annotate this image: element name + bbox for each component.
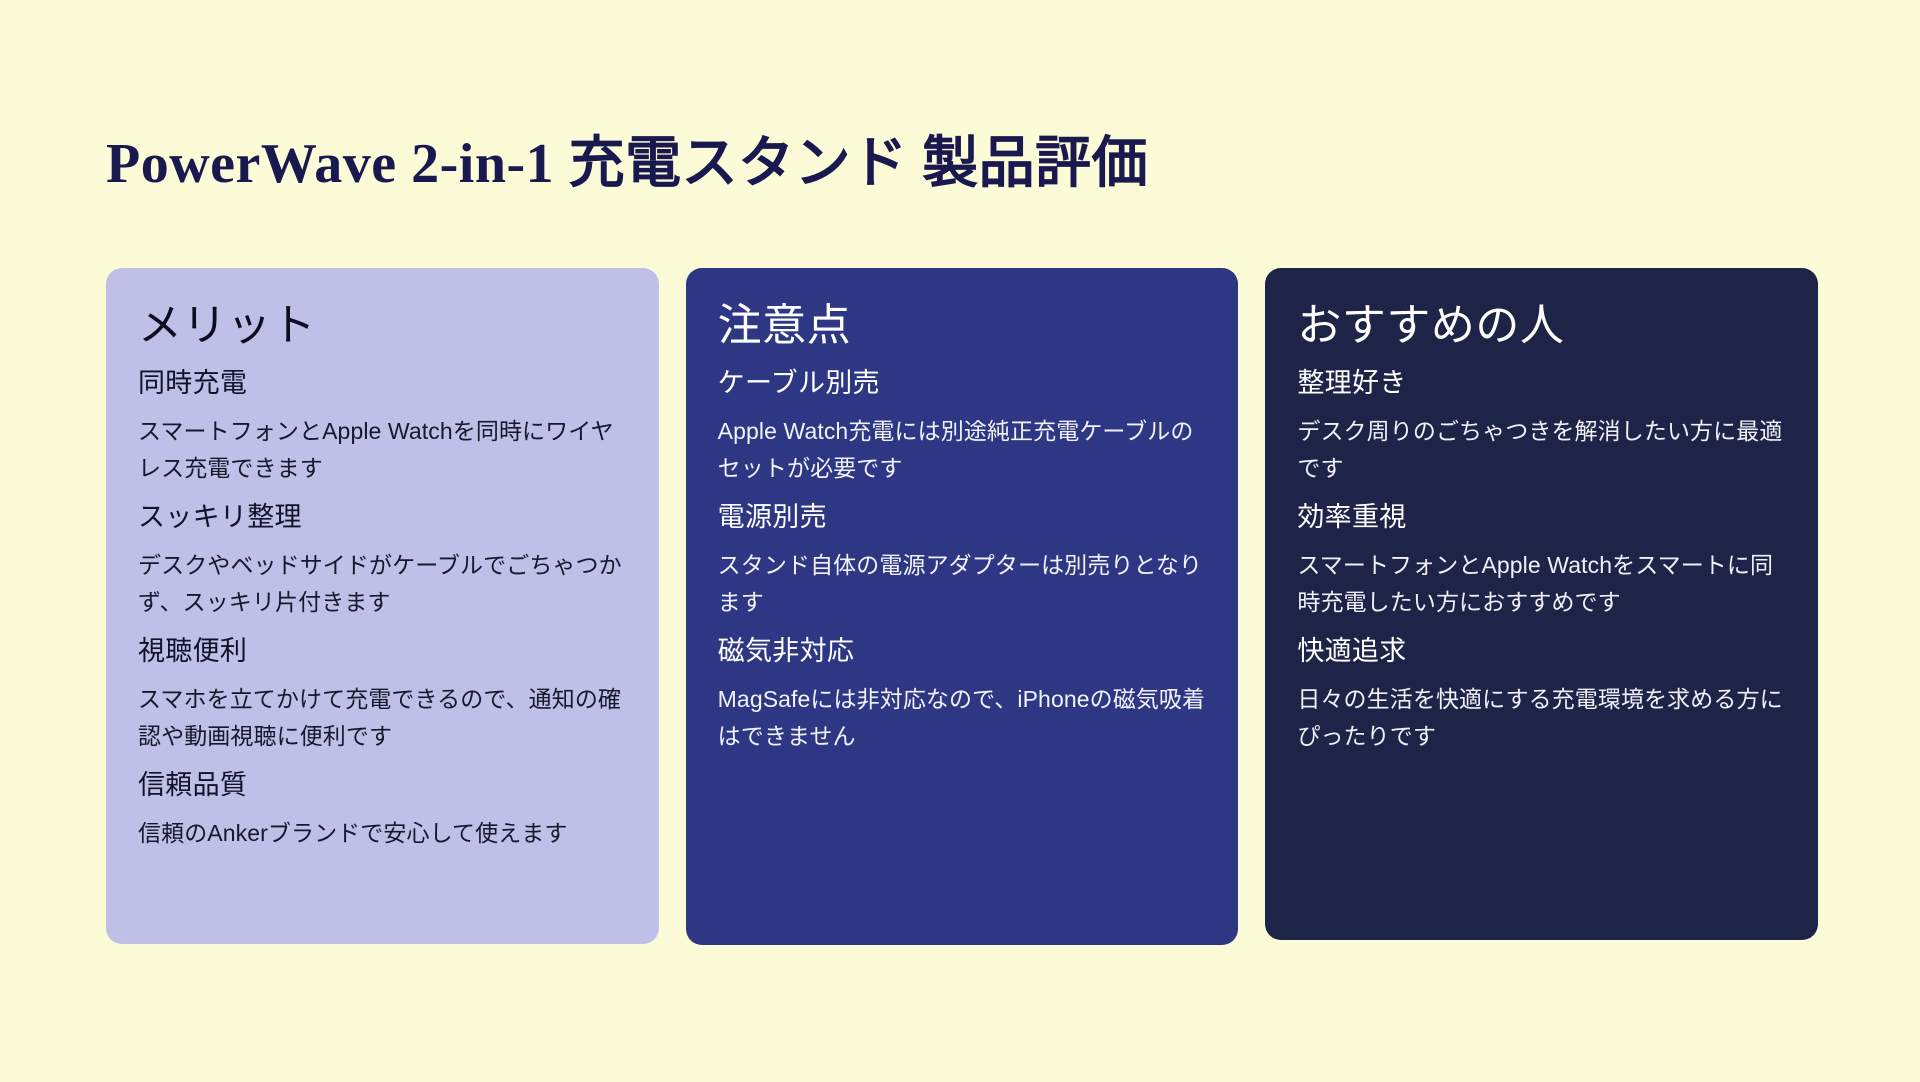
item-heading: 快適追求 bbox=[1297, 631, 1786, 672]
item-body: スタンド自体の電源アダプターは別売りとなります bbox=[718, 547, 1207, 622]
item-heading: 視聴便利 bbox=[138, 631, 627, 672]
card-merits: メリット 同時充電 スマートフォンとApple Watchを同時にワイヤレス充電… bbox=[106, 268, 659, 944]
item-heading: ケーブル別売 bbox=[718, 363, 1207, 404]
card-merits-title: メリット bbox=[138, 298, 627, 353]
item-heading: 磁気非対応 bbox=[718, 631, 1207, 672]
card-audience: おすすめの人 整理好き デスク周りのごちゃつきを解消したい方に最適です 効率重視… bbox=[1265, 268, 1818, 940]
item-body: MagSafeには非対応なので、iPhoneの磁気吸着はできません bbox=[718, 681, 1207, 756]
card-audience-title: おすすめの人 bbox=[1297, 298, 1786, 353]
list-item: 効率重視 スマートフォンとApple Watchをスマートに同時充電したい方にお… bbox=[1297, 497, 1786, 621]
list-item: ケーブル別売 Apple Watch充電には別途純正充電ケーブルのセットが必要で… bbox=[718, 363, 1207, 487]
item-heading: 効率重視 bbox=[1297, 497, 1786, 538]
item-body: Apple Watch充電には別途純正充電ケーブルのセットが必要です bbox=[718, 413, 1207, 488]
item-heading: 電源別売 bbox=[718, 497, 1207, 538]
item-body: デスクやベッドサイドがケーブルでごちゃつかず、スッキリ片付きます bbox=[138, 547, 627, 622]
item-heading: 信頼品質 bbox=[138, 765, 627, 806]
item-body: 信頼のAnkerブランドで安心して使えます bbox=[138, 815, 627, 852]
list-item: 快適追求 日々の生活を快適にする充電環境を求める方にぴったりです bbox=[1297, 631, 1786, 755]
card-cautions: 注意点 ケーブル別売 Apple Watch充電には別途純正充電ケーブルのセット… bbox=[686, 268, 1239, 945]
card-cautions-title: 注意点 bbox=[718, 298, 1207, 353]
list-item: 視聴便利 スマホを立てかけて充電できるので、通知の確認や動画視聴に便利です bbox=[138, 631, 627, 755]
item-body: デスク周りのごちゃつきを解消したい方に最適です bbox=[1297, 413, 1786, 488]
list-item: スッキリ整理 デスクやベッドサイドがケーブルでごちゃつかず、スッキリ片付きます bbox=[138, 497, 627, 621]
item-heading: スッキリ整理 bbox=[138, 497, 627, 538]
page-title: PowerWave 2-in-1 充電スタンド 製品評価 bbox=[106, 131, 1148, 197]
list-item: 整理好き デスク周りのごちゃつきを解消したい方に最適です bbox=[1297, 363, 1786, 487]
item-body: スマートフォンとApple Watchを同時にワイヤレス充電できます bbox=[138, 413, 627, 488]
list-item: 磁気非対応 MagSafeには非対応なので、iPhoneの磁気吸着はできません bbox=[718, 631, 1207, 755]
item-body: スマートフォンとApple Watchをスマートに同時充電したい方におすすめです bbox=[1297, 547, 1786, 622]
list-item: 同時充電 スマートフォンとApple Watchを同時にワイヤレス充電できます bbox=[138, 363, 627, 487]
list-item: 電源別売 スタンド自体の電源アダプターは別売りとなります bbox=[718, 497, 1207, 621]
item-body: スマホを立てかけて充電できるので、通知の確認や動画視聴に便利です bbox=[138, 681, 627, 756]
card-group: メリット 同時充電 スマートフォンとApple Watchを同時にワイヤレス充電… bbox=[106, 268, 1818, 946]
item-body: 日々の生活を快適にする充電環境を求める方にぴったりです bbox=[1297, 681, 1786, 756]
list-item: 信頼品質 信頼のAnkerブランドで安心して使えます bbox=[138, 765, 627, 852]
item-heading: 同時充電 bbox=[138, 363, 627, 404]
item-heading: 整理好き bbox=[1297, 363, 1786, 404]
slide-root: PowerWave 2-in-1 充電スタンド 製品評価 メリット 同時充電 ス… bbox=[0, 0, 1920, 1082]
